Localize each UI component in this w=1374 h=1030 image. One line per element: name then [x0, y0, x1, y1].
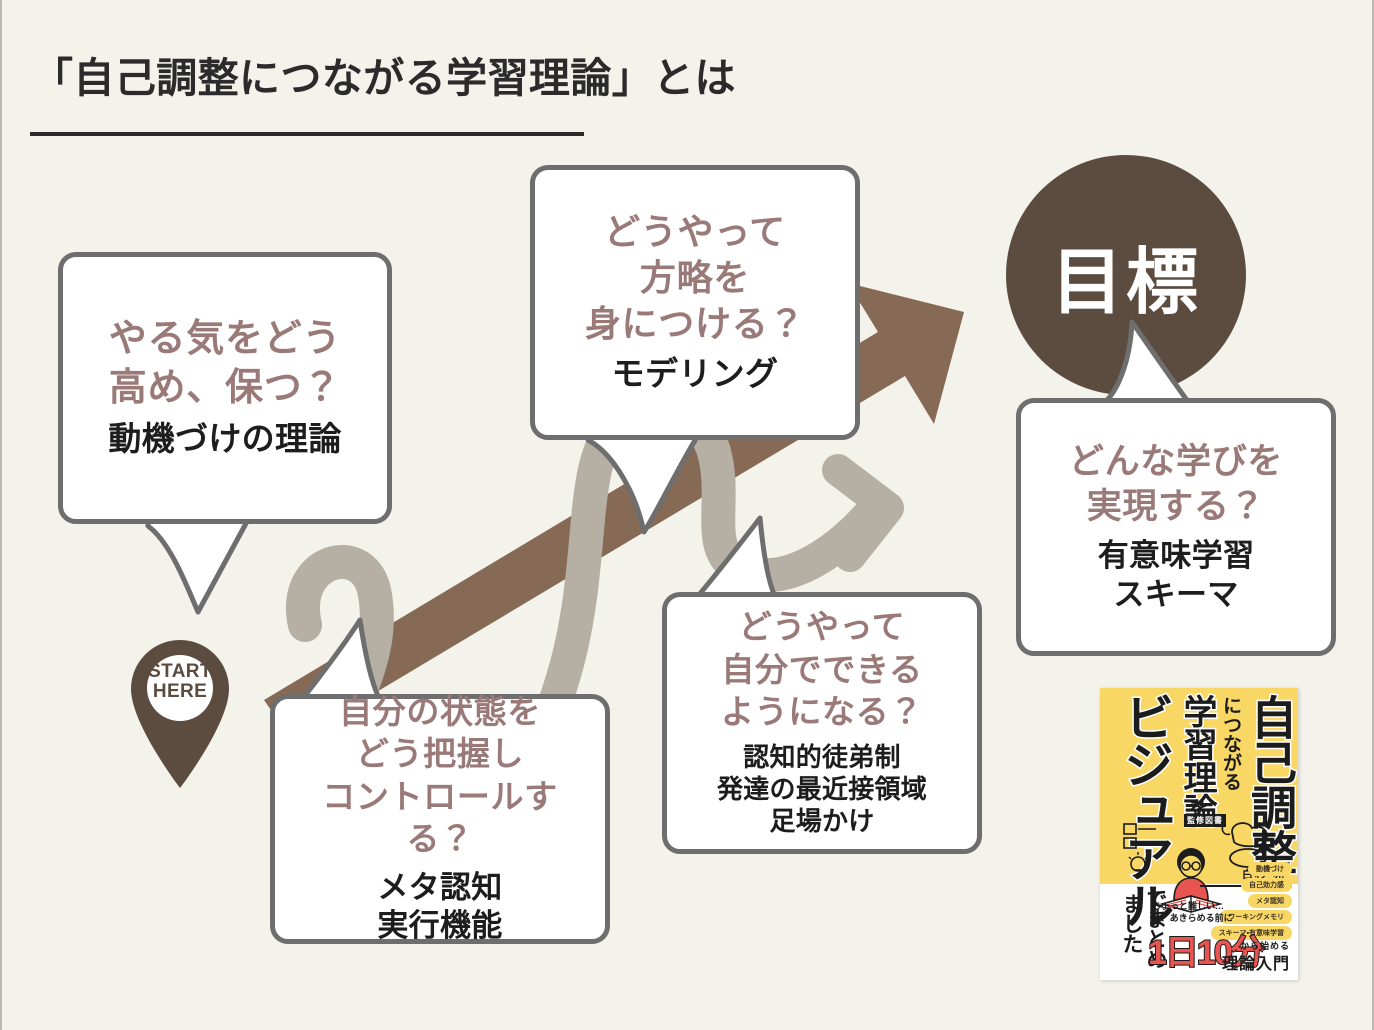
line: 方略を: [585, 255, 805, 301]
book-cover-thumbnail[interactable]: 自己調整 につながる 学習理論 を ビジュアル でまとめ ました 監修図書 白杉…: [1100, 688, 1298, 980]
bubble-meaningful-learning[interactable]: どんな学びを 実現する？ 有意味学習 スキーマ: [1016, 398, 1336, 656]
bubble-metacognition-question: 自分の状態を どう把握し コントロールする？: [289, 692, 591, 861]
book-catch-line-1: ちょっと難しい…: [1152, 900, 1233, 912]
bubble-strategy-question: どうやって 方略を 身につける？: [585, 209, 805, 347]
line: 動機づけの理論: [108, 420, 341, 461]
line: 足場かけ: [717, 806, 927, 838]
book-catchcopy: ちょっと難しい… と、あきらめる前に: [1152, 900, 1233, 924]
line: やる気をどう: [109, 315, 342, 364]
line: メタ認知: [377, 869, 502, 907]
line: 高め、保つ？: [109, 364, 342, 413]
line: 有意味学習: [1098, 537, 1255, 575]
book-sub-line-2: 理論入門: [1222, 950, 1290, 974]
line: どう把握し: [289, 734, 591, 776]
book-title-sub: につながる: [1221, 696, 1240, 791]
bubble-apprenticeship-answer: 認知的徒弟制 発達の最近接領域 足場かけ: [717, 742, 927, 839]
line: 実行機能: [377, 907, 502, 945]
line: どうやって: [585, 209, 805, 255]
line: 自分の状態を: [289, 692, 591, 734]
bubble-motivation[interactable]: やる気をどう 高め、保つ？ 動機づけの理論: [58, 252, 392, 524]
line: モデリング: [612, 355, 779, 396]
bubble-metacognition[interactable]: 自分の状態を どう把握し コントロールする？ メタ認知 実行機能: [270, 694, 610, 944]
bubble-meaningful-question: どんな学びを 実現する？: [1069, 440, 1283, 530]
bubble-metacognition-answer: メタ認知 実行機能: [377, 869, 502, 946]
checklist-lightbulb-icon: [1122, 820, 1166, 876]
line: どんな学びを: [1069, 440, 1283, 485]
book-badge: 自己効力感: [1241, 878, 1292, 892]
line: 自分でできる: [721, 650, 923, 692]
line: ようになる？: [721, 692, 923, 734]
book-catch-line-2: と、あきらめる前に: [1152, 912, 1233, 924]
line: スキーマ: [1098, 576, 1255, 614]
line: 身につける？: [585, 301, 805, 347]
goal-circle: 目標: [1006, 155, 1246, 395]
line: コントロールする？: [289, 777, 591, 861]
goal-label: 目標: [1051, 223, 1201, 328]
book-title-tail-2: ました: [1121, 893, 1142, 953]
bubble-meaningful-answer: 有意味学習 スキーマ: [1098, 537, 1255, 614]
bubble-motivation-answer: 動機づけの理論: [108, 420, 341, 461]
bubble-strategy[interactable]: どうやって 方略を 身につける？ モデリング: [530, 165, 860, 440]
bubble-motivation-question: やる気をどう 高め、保つ？: [109, 315, 342, 412]
line: どうやって: [721, 607, 923, 649]
line: 発達の最近接領域: [717, 774, 927, 806]
bubble-strategy-answer: モデリング: [612, 355, 779, 396]
map-pin-icon: [128, 638, 232, 790]
book-badge: 動機づけ: [1248, 862, 1292, 876]
bubble-apprenticeship-question: どうやって 自分でできる ようになる？: [721, 607, 923, 734]
line: 実現する？: [1069, 485, 1283, 530]
start-here-pin: START HERE: [128, 638, 232, 795]
book-badge: メタ認知: [1248, 894, 1292, 908]
slide-canvas: 「自己調整につながる学習理論」とは 目標 START HERE: [0, 0, 1374, 1030]
line: 認知的徒弟制: [717, 742, 927, 774]
bubble-apprenticeship[interactable]: どうやって 自分でできる ようになる？ 認知的徒弟制 発達の最近接領域 足場かけ: [662, 592, 982, 854]
